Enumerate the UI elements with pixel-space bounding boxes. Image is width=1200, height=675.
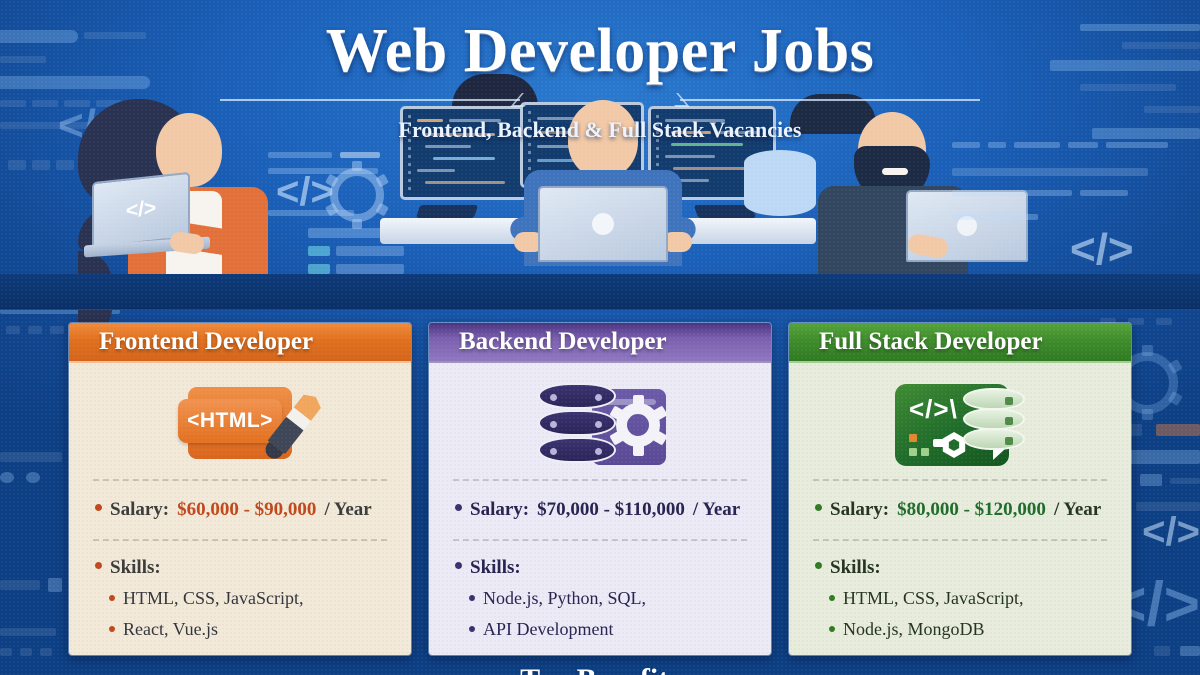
bullet-icon (455, 504, 462, 511)
code-glyph-text: </>\ (909, 394, 958, 425)
job-cards: Frontend Developer <HTML> Salary: (0, 322, 1200, 662)
skill-item: Node.js, Python, SQL, (451, 583, 749, 614)
page-subtitle: Frontend, Backend & Full Stack Vacancies (0, 117, 1200, 143)
database-with-gear-icon (534, 381, 666, 469)
salary-label: Salary: (830, 499, 889, 521)
code-bracket-icon: </> (1070, 228, 1134, 272)
skill-item: HTML, CSS, JavaScript, (91, 583, 389, 614)
skill-text: HTML, CSS, JavaScript, (843, 588, 1024, 609)
card-frontend-developer[interactable]: Frontend Developer <HTML> Salary: (68, 322, 412, 656)
salary-label: Salary: (470, 499, 529, 521)
skill-text: HTML, CSS, JavaScript, (123, 588, 304, 609)
bullet-icon (469, 595, 475, 601)
card-body-frontend: <HTML> Salary: $60,000 - $90,000 / Year (69, 363, 411, 655)
icon-zone-fullstack: </>\ (811, 377, 1109, 473)
bullet-icon (829, 626, 835, 632)
database-icon (963, 388, 1025, 450)
skill-text: Node.js, Python, SQL, (483, 588, 646, 609)
card-title-fullstack: Full Stack Developer (789, 323, 1131, 363)
skills-label-text: Skills: (470, 557, 521, 579)
bullet-icon (469, 626, 475, 632)
skills-label-text: Skills: (110, 557, 161, 579)
card-full-stack-developer[interactable]: Full Stack Developer </>\ (788, 322, 1132, 656)
skills-label-text: Skills: (830, 557, 881, 579)
bullet-icon (829, 595, 835, 601)
salary-label: Salary: (110, 499, 169, 521)
title-divider (220, 93, 980, 107)
salary-range: $60,000 - $90,000 (177, 499, 316, 521)
bullet-icon (109, 626, 115, 632)
divider (93, 539, 387, 541)
skills-label-backend: Skills: (451, 547, 749, 583)
card-body-backend: Salary: $70,000 - $110,000 / Year Skills… (429, 363, 771, 655)
salary-row-backend: Salary: $70,000 - $110,000 / Year (451, 487, 749, 533)
hero-ui-lines-right (952, 142, 1182, 262)
page-title: Web Developer Jobs (0, 16, 1200, 87)
html-badge-text: <HTML> (178, 399, 282, 443)
footer-partial-heading: Top Benefits (0, 663, 1200, 675)
skill-item: Node.js, MongoDB (811, 614, 1109, 645)
bullet-icon (815, 562, 822, 569)
salary-row-fullstack: Salary: $80,000 - $120,000 / Year (811, 487, 1109, 533)
skill-item: React, Vue.js (91, 614, 389, 645)
skill-item: API Development (451, 614, 749, 645)
divider (813, 539, 1107, 541)
skills-label-frontend: Skills: (91, 547, 389, 583)
card-body-fullstack: </>\ (789, 363, 1131, 655)
salary-period: / Year (1054, 499, 1101, 521)
gear-icon (616, 403, 660, 447)
gear-icon (330, 168, 384, 222)
title-block: Web Developer Jobs Frontend, Backend & F… (0, 16, 1200, 143)
skill-item: HTML, CSS, JavaScript, (811, 583, 1109, 614)
skill-text: API Development (483, 619, 613, 640)
hero-desk-deck (0, 274, 1200, 310)
card-title-backend: Backend Developer (429, 323, 771, 363)
icon-zone-backend (451, 377, 749, 473)
code-bracket-icon: </> (276, 172, 334, 212)
salary-range: $70,000 - $110,000 (537, 499, 685, 521)
salary-period: / Year (693, 499, 740, 521)
divider (93, 479, 387, 481)
divider (453, 539, 747, 541)
salary-period: / Year (324, 499, 371, 521)
icon-zone-frontend: <HTML> (91, 377, 389, 473)
bullet-icon (815, 504, 822, 511)
card-title-frontend: Frontend Developer (69, 323, 411, 363)
divider (813, 479, 1107, 481)
salary-range: $80,000 - $120,000 (897, 499, 1046, 521)
database-icon (538, 383, 616, 467)
salary-row-frontend: Salary: $60,000 - $90,000 / Year (91, 487, 389, 533)
infographic-poster: </> (0, 0, 1200, 675)
bullet-icon (95, 562, 102, 569)
divider (453, 479, 747, 481)
skills-label-fullstack: Skills: (811, 547, 1109, 583)
database-icon (744, 150, 816, 228)
skill-text: Node.js, MongoDB (843, 619, 985, 640)
card-backend-developer[interactable]: Backend Developer (428, 322, 772, 656)
bullet-icon (455, 562, 462, 569)
html-badge-with-pen-icon: <HTML> (174, 383, 306, 467)
bullet-icon (109, 595, 115, 601)
skill-text: React, Vue.js (123, 619, 218, 640)
code-node-database-icon: </>\ (895, 382, 1025, 468)
hero-illustration: Web Developer Jobs Frontend, Backend & F… (0, 0, 1200, 310)
laptop-center (538, 186, 668, 262)
bullet-icon (95, 504, 102, 511)
